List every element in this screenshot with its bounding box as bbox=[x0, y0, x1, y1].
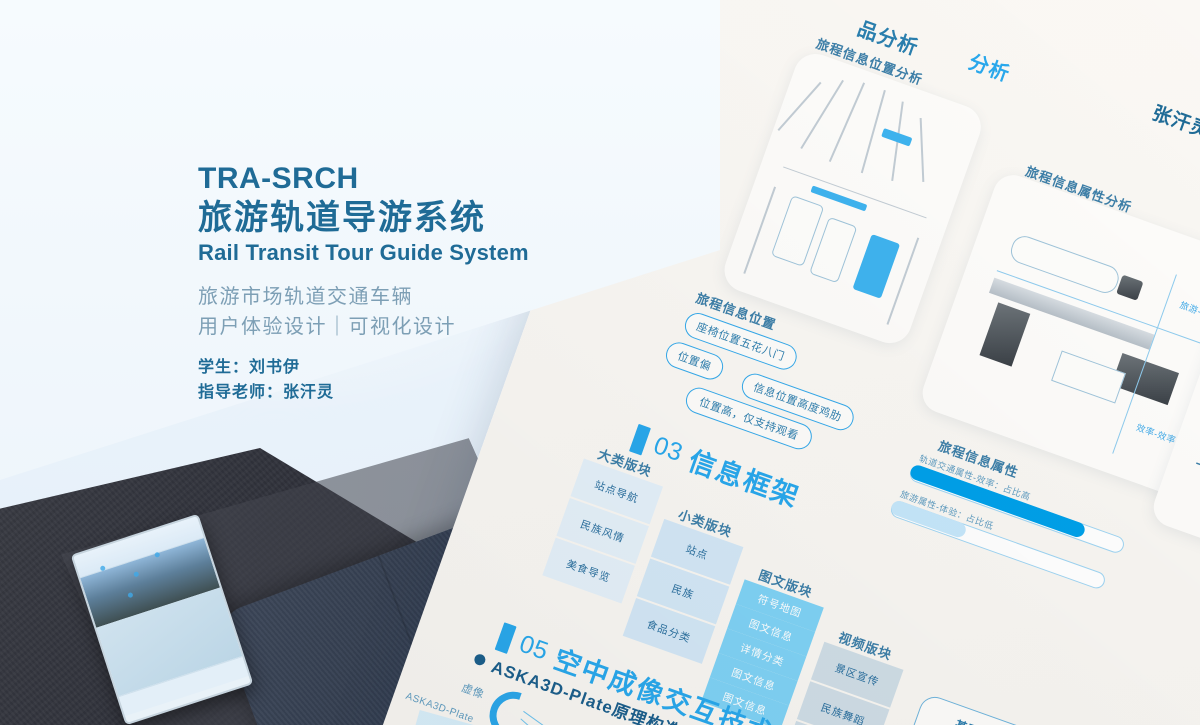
basic-module-title: 基础版块 bbox=[953, 716, 1008, 725]
section-03-bar-icon bbox=[629, 424, 651, 456]
project-desc-line1: 旅游市场轨道交通车辆 bbox=[198, 282, 618, 312]
project-meta: 学生：刘书伊 指导老师：张汗灵 bbox=[198, 356, 618, 406]
section-05-bar-icon bbox=[495, 622, 517, 654]
title-block: TRA-SRCH 旅游轨道导游系统 Rail Transit Tour Guid… bbox=[198, 162, 618, 406]
advisor-name: 指导老师：张汗灵 bbox=[198, 381, 618, 406]
section-05-bullet-icon bbox=[473, 653, 487, 667]
student-name: 学生：刘书伊 bbox=[198, 356, 618, 381]
project-code: TRA-SRCH bbox=[198, 162, 618, 196]
train-interior-sketch bbox=[718, 48, 987, 349]
aska-label-virtual: 虚像 bbox=[460, 679, 487, 702]
project-title-zh: 旅游轨道导游系统 bbox=[198, 198, 618, 238]
poster-advisor-name: 张汗灵 bbox=[1149, 98, 1200, 144]
project-title-en: Rail Transit Tour Guide System bbox=[198, 240, 618, 266]
basic-module-box: 基础版块 到站信息 实时时间 下一站点 下站温度 穿着推荐 bbox=[879, 692, 1048, 725]
poster-heading-right: 分析 bbox=[965, 46, 1014, 87]
project-desc: 旅游市场轨道交通车辆 用户体验设计｜可视化设计 bbox=[198, 282, 618, 342]
project-desc-line2: 用户体验设计｜可视化设计 bbox=[198, 312, 618, 342]
screenshot-scene: 品分析 分析 张汗灵 旅程信息位置分析 旅程信息位置 座椅位置五花八门 位置偏 … bbox=[0, 0, 1200, 725]
